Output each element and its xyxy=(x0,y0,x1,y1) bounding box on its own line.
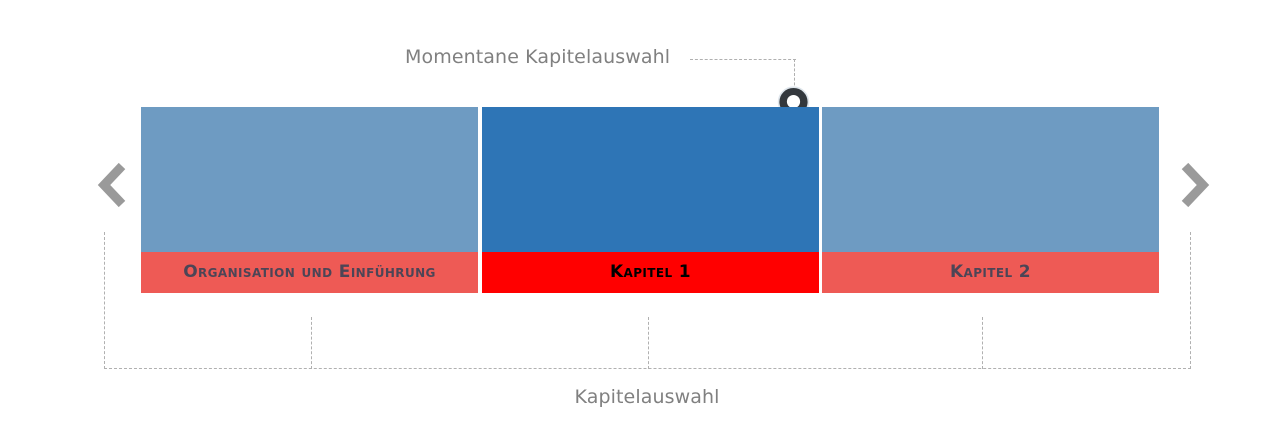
chapter-tile-active[interactable]: Kapitel 1 xyxy=(482,107,819,293)
chapter-title-label: Kapitel 2 xyxy=(822,252,1159,293)
chevron-right-icon[interactable] xyxy=(1170,158,1216,212)
bracket-right-edge xyxy=(1190,232,1191,369)
bracket-tick xyxy=(648,317,649,369)
carousel-next-button[interactable] xyxy=(1170,158,1216,212)
current-selection-annotation-label: Momentane Kapitelauswahl xyxy=(405,46,670,68)
annotation-leader-horizontal xyxy=(690,59,796,60)
chapter-selection-annotation-label: Kapitelauswahl xyxy=(0,386,1280,408)
bracket-left-edge xyxy=(104,232,105,369)
bracket-tick xyxy=(311,317,312,369)
chapter-thumbnail xyxy=(482,107,819,252)
chevron-left-icon[interactable] xyxy=(91,158,137,212)
chapter-tile[interactable]: Organisation und Einführung xyxy=(141,107,478,293)
chapter-tile[interactable]: Kapitel 2 xyxy=(822,107,1159,293)
chapter-title-label: Kapitel 1 xyxy=(482,252,819,293)
chapter-thumbnail xyxy=(141,107,478,252)
bracket-tick xyxy=(982,317,983,369)
carousel-prev-button[interactable] xyxy=(91,158,137,212)
chapter-thumbnail xyxy=(822,107,1159,252)
chapter-title-label: Organisation und Einführung xyxy=(141,252,478,293)
bracket-baseline xyxy=(104,368,1191,369)
chapter-carousel-screen: Momentane Kapitelauswahl Organisation un… xyxy=(0,0,1280,438)
